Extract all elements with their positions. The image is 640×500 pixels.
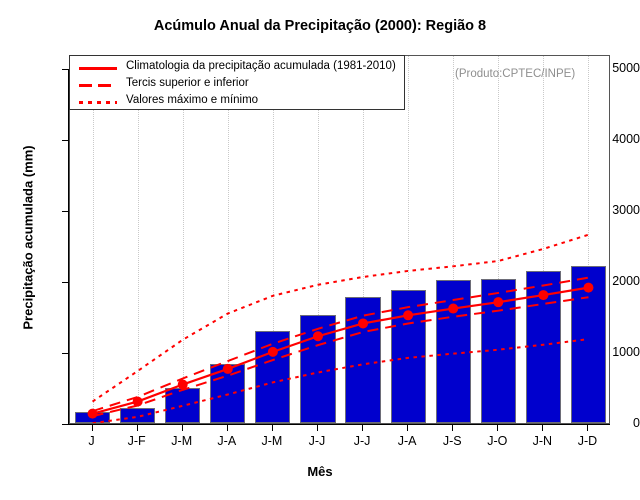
climatology-point bbox=[223, 364, 233, 374]
y-tick bbox=[62, 140, 69, 141]
extreme-line bbox=[93, 235, 589, 402]
x-tick bbox=[407, 424, 408, 431]
x-tick bbox=[317, 424, 318, 431]
climatology-point bbox=[88, 409, 98, 419]
x-tick bbox=[272, 424, 273, 431]
climatology-point bbox=[178, 380, 188, 390]
x-tick bbox=[497, 424, 498, 431]
y-tick bbox=[62, 424, 69, 425]
climatology-point bbox=[583, 283, 593, 293]
climatology-point bbox=[403, 310, 413, 320]
chart-title: Acúmulo Anual da Precipitação (2000): Re… bbox=[0, 18, 640, 34]
legend-item-tercis: Tercis superior e inferior bbox=[70, 77, 404, 94]
tercile-line bbox=[93, 297, 589, 416]
legend-label-tercis: Tercis superior e inferior bbox=[126, 77, 249, 89]
y-axis-title: Precipitação acumulada (mm) bbox=[21, 58, 36, 418]
plot-inner bbox=[70, 56, 609, 423]
climatology-point bbox=[133, 397, 143, 407]
legend-swatch-dotted-icon bbox=[79, 101, 117, 104]
x-tick bbox=[452, 424, 453, 431]
legend-item-climatologia: Climatologia da precipitação acumulada (… bbox=[70, 60, 404, 77]
x-tick bbox=[542, 424, 543, 431]
x-tick bbox=[227, 424, 228, 431]
product-annotation: (Produto:CPTEC/INPE) bbox=[455, 68, 575, 80]
y-tick bbox=[62, 69, 69, 70]
y-tick bbox=[62, 211, 69, 212]
x-axis-line bbox=[69, 424, 610, 425]
legend: Climatologia da precipitação acumulada (… bbox=[69, 55, 405, 110]
climatology-point bbox=[493, 297, 503, 307]
x-tick bbox=[362, 424, 363, 431]
y-tick bbox=[62, 353, 69, 354]
climatology-point bbox=[358, 318, 368, 328]
line-series-overlay bbox=[70, 56, 609, 423]
x-tick-label: J-D bbox=[557, 434, 617, 448]
legend-item-extremos: Valores máximo e mínimo bbox=[70, 94, 404, 111]
climatology-point bbox=[538, 290, 548, 300]
climatology-point bbox=[448, 304, 458, 314]
climatology-point bbox=[268, 347, 278, 357]
x-axis-title: Mês bbox=[0, 464, 640, 479]
x-tick bbox=[182, 424, 183, 431]
x-tick bbox=[92, 424, 93, 431]
y-tick bbox=[62, 282, 69, 283]
chart-root: Acúmulo Anual da Precipitação (2000): Re… bbox=[0, 0, 640, 500]
climatology-point bbox=[313, 331, 323, 341]
legend-label-climatologia: Climatologia da precipitação acumulada (… bbox=[126, 60, 396, 72]
legend-swatch-dashed-icon bbox=[79, 84, 117, 87]
legend-label-extremos: Valores máximo e mínimo bbox=[126, 94, 258, 106]
x-tick bbox=[587, 424, 588, 431]
legend-swatch-solid-icon bbox=[79, 67, 117, 70]
x-tick bbox=[137, 424, 138, 431]
